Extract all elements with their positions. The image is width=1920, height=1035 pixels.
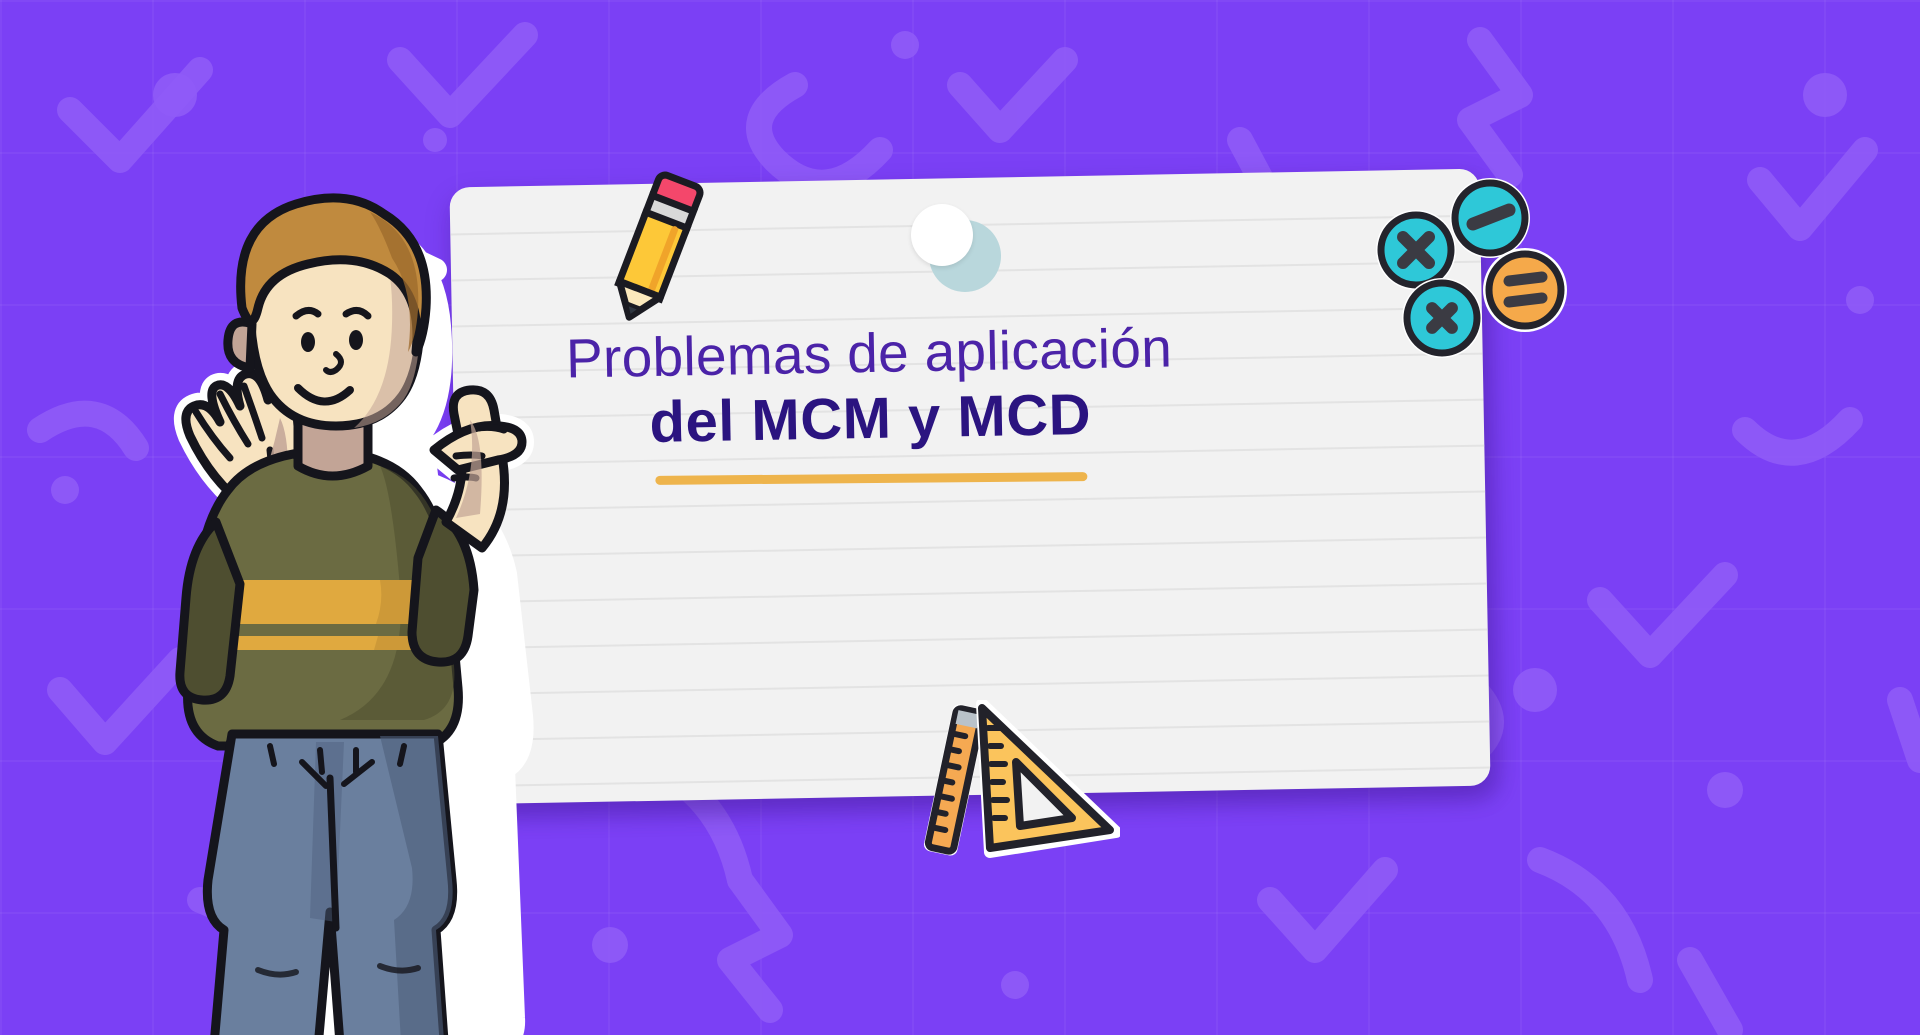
- pencil-icon: [600, 170, 710, 330]
- ruler-and-set-square: [920, 700, 1120, 860]
- student-illustration: [130, 150, 550, 1035]
- math-operator-badges: [1370, 178, 1570, 368]
- title-block: Problemas de aplicación del MCM y MCD: [519, 319, 1222, 490]
- equals-badge: [1483, 248, 1567, 332]
- plus-badge: [1402, 278, 1482, 358]
- slide-canvas: Problemas de aplicación del MCM y MCD: [0, 0, 1920, 1035]
- multiply-badge: [1376, 210, 1456, 290]
- push-pin-icon: [905, 198, 1005, 293]
- set-square-icon: [982, 704, 1116, 852]
- push-pin-head: [911, 204, 973, 266]
- minus-badge: [1450, 178, 1530, 258]
- title-line-2: del MCM y MCD: [520, 380, 1221, 458]
